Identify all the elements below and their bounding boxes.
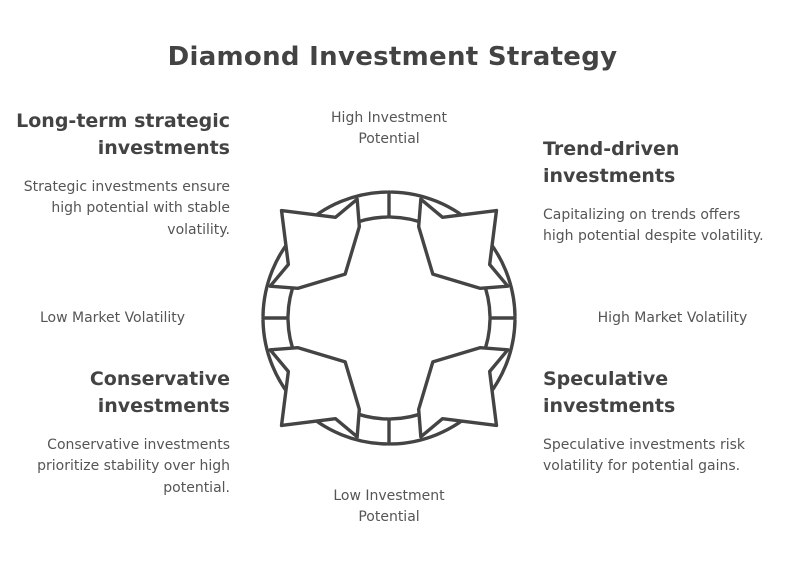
axis-label-top-line2: Potential (284, 129, 494, 150)
quadrant-bottom-right: Speculative investments Speculative inve… (543, 366, 773, 478)
quadrant-top-right-body: Capitalizing on trends offers high poten… (543, 205, 773, 248)
axis-label-left: Low Market Volatility (0, 308, 225, 329)
quadrant-top-left-body: Strategic investments ensure high potent… (0, 177, 230, 241)
quadrant-top-left: Long-term strategic investments Strategi… (0, 108, 230, 241)
quadrant-bottom-left-heading: Conservative investments (0, 366, 230, 420)
axis-label-right: High Market Volatility (560, 308, 785, 329)
page-title: Diamond Investment Strategy (0, 42, 785, 72)
quadrant-top-right-heading: Trend-driven investments (543, 136, 773, 190)
quadrant-bottom-right-body: Speculative investments risk volatility … (543, 435, 773, 478)
ring-star-icon (248, 177, 530, 459)
quadrant-top-right: Trend-driven investments Capitalizing on… (543, 136, 773, 248)
central-ring-diagram (248, 177, 530, 459)
axis-label-top: High Investment Potential (284, 108, 494, 150)
axis-label-bottom-line1: Low Investment (284, 486, 494, 507)
axis-label-top-line1: High Investment (284, 108, 494, 129)
axis-label-bottom-line2: Potential (284, 507, 494, 528)
quadrant-bottom-left: Conservative investments Conservative in… (0, 366, 230, 499)
quadrant-bottom-left-body: Conservative investments prioritize stab… (0, 435, 230, 499)
axis-label-bottom: Low Investment Potential (284, 486, 494, 528)
quadrant-bottom-right-heading: Speculative investments (543, 366, 773, 420)
diagram-canvas: Diamond Investment Strategy High Investm… (0, 0, 785, 565)
quadrant-top-left-heading: Long-term strategic investments (0, 108, 230, 162)
